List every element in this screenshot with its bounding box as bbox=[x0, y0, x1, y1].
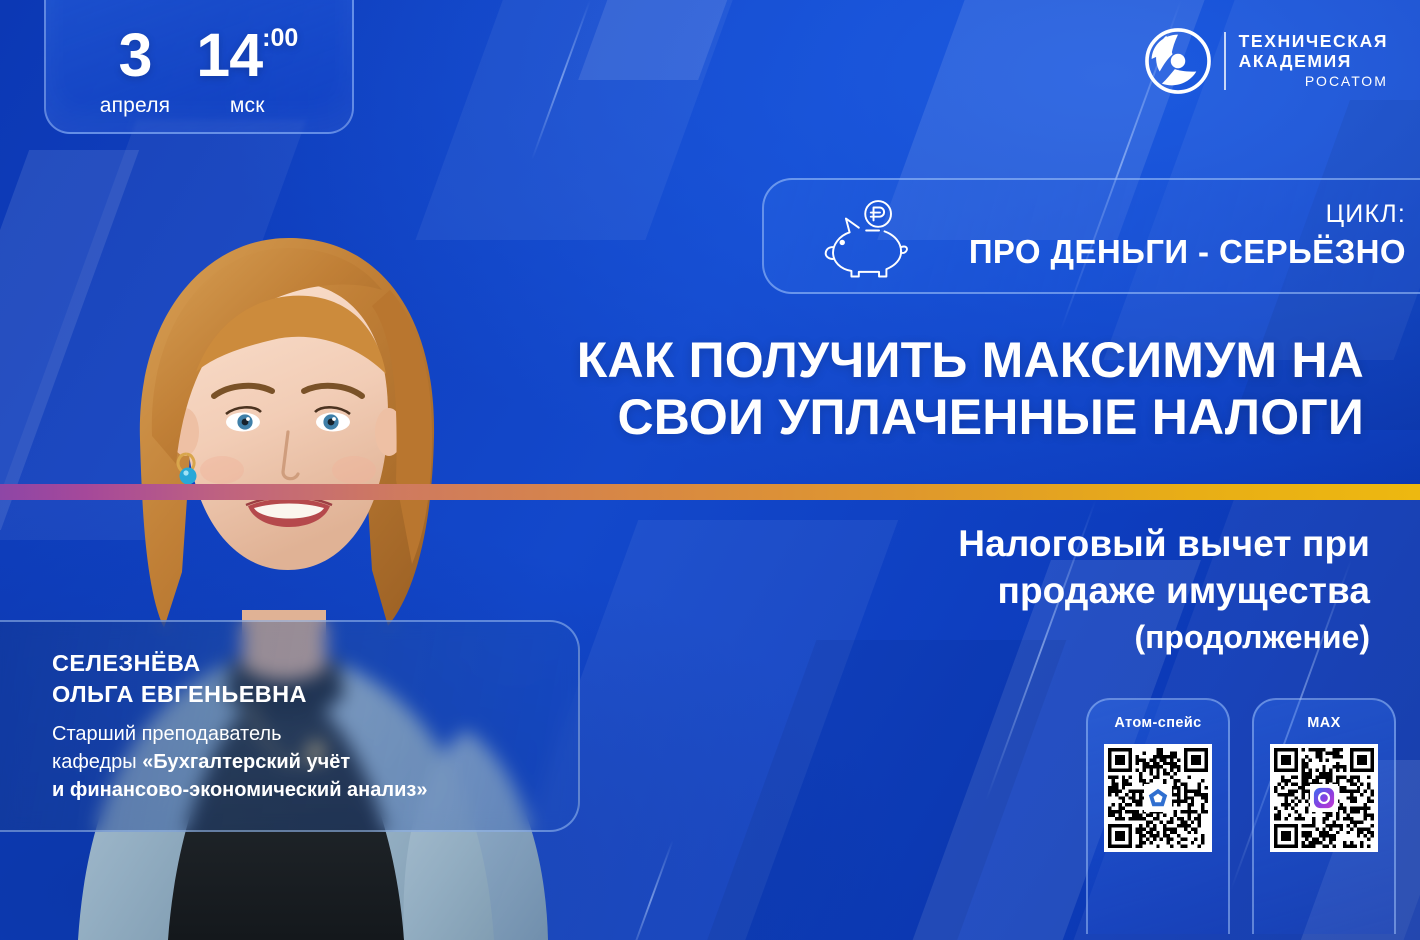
event-month: апреля bbox=[100, 94, 171, 118]
event-minutes: :00 bbox=[262, 24, 298, 52]
page-title: КАК ПОЛУЧИТЬ МАКСИМУМ НА СВОИ УПЛАЧЕННЫЕ… bbox=[464, 332, 1364, 445]
webinar-poster: 3 апреля 14:00 мск ТЕХНИЧЕСКАЯ bbox=[0, 0, 1420, 940]
cycle-text-block: ЦИКЛ: ПРО ДЕНЬГИ - СЕРЬЁЗНО bbox=[969, 201, 1406, 272]
deco-shape-11 bbox=[704, 640, 1067, 940]
date-time-badge: 3 апреля 14:00 мск bbox=[44, 0, 354, 134]
logo-line-2: АКАДЕМИЯ bbox=[1239, 52, 1388, 72]
piggy-bank-ruble-icon bbox=[822, 190, 914, 282]
logo-divider bbox=[1224, 32, 1226, 90]
qr-label-atom-space: Атом-спейс bbox=[1114, 715, 1201, 731]
qr-label-max: MAX bbox=[1307, 715, 1340, 731]
deco-hairline-5 bbox=[628, 840, 674, 940]
max-messenger-logo bbox=[1310, 784, 1338, 812]
speaker-given-name: ОЛЬГА ЕВГЕНЬЕВНА bbox=[52, 679, 578, 710]
subtitle-note: (продолжение) bbox=[670, 617, 1370, 659]
logo-wordmark: ТЕХНИЧЕСКАЯ АКАДЕМИЯ РОСАТОМ bbox=[1239, 32, 1388, 90]
subtitle: Налоговый вычет при продаже имущества (п… bbox=[670, 520, 1370, 658]
rosatom-academy-logo: ТЕХНИЧЕСКАЯ АКАДЕМИЯ РОСАТОМ bbox=[1145, 28, 1388, 94]
title-line-1: КАК ПОЛУЧИТЬ МАКСИМУМ НА bbox=[464, 332, 1364, 389]
event-day: 3 bbox=[100, 27, 171, 85]
qr-card-max[interactable]: MAX bbox=[1252, 698, 1396, 934]
event-timezone: мск bbox=[196, 94, 298, 118]
speaker-name: СЕЛЕЗНЁВА ОЛЬГА ЕВГЕНЬЕВНА bbox=[52, 648, 578, 711]
deco-hairline-4 bbox=[531, 0, 591, 160]
max-messenger-glyph bbox=[1313, 787, 1335, 809]
atom-space-logo bbox=[1144, 784, 1172, 812]
time-column: 14:00 мск bbox=[196, 27, 298, 118]
qr-box-atom-space[interactable] bbox=[1104, 744, 1212, 852]
qr-codes-row: Атом-спейс MAX bbox=[1086, 698, 1396, 934]
atom-space-glyph bbox=[1147, 787, 1169, 809]
speaker-info-card: СЕЛЕЗНЁВА ОЛЬГА ЕВГЕНЬЕВНА Старший препо… bbox=[0, 620, 580, 832]
title-line-2: СВОИ УПЛАЧЕННЫЕ НАЛОГИ bbox=[464, 389, 1364, 446]
rosatom-atom-icon bbox=[1145, 28, 1211, 94]
event-hour: 14 bbox=[196, 21, 262, 89]
cycle-badge: ЦИКЛ: ПРО ДЕНЬГИ - СЕРЬЁЗНО bbox=[762, 178, 1420, 294]
speaker-role-dept-prefix: кафедры bbox=[52, 751, 142, 773]
subtitle-line-2: продаже имущества bbox=[670, 567, 1370, 614]
cycle-label: ЦИКЛ: bbox=[969, 201, 1406, 229]
deco-shape-1 bbox=[578, 0, 742, 80]
subtitle-line-1: Налоговый вычет при bbox=[670, 520, 1370, 567]
speaker-role-dept-name-2: и финансово-экономический анализ» bbox=[52, 779, 427, 801]
speaker-role: Старший преподаватель кафедры «Бухгалтер… bbox=[52, 720, 578, 805]
logo-line-3: РОСАТОМ bbox=[1239, 74, 1388, 90]
qr-card-atom-space[interactable]: Атом-спейс bbox=[1086, 698, 1230, 934]
qr-box-max[interactable] bbox=[1270, 744, 1378, 852]
accent-gradient-bar bbox=[0, 484, 1420, 500]
speaker-role-dept-name-1: «Бухгалтерский учёт bbox=[142, 751, 350, 773]
speaker-role-line-1: Старший преподаватель bbox=[52, 720, 578, 748]
speaker-role-line-2: кафедры «Бухгалтерский учёт bbox=[52, 748, 578, 776]
logo-line-1: ТЕХНИЧЕСКАЯ bbox=[1239, 32, 1388, 52]
speaker-role-line-3: и финансово-экономический анализ» bbox=[52, 776, 578, 804]
speaker-surname: СЕЛЕЗНЁВА bbox=[52, 648, 578, 679]
cycle-name: ПРО ДЕНЬГИ - СЕРЬЁЗНО bbox=[969, 233, 1406, 271]
date-column: 3 апреля bbox=[100, 27, 171, 118]
